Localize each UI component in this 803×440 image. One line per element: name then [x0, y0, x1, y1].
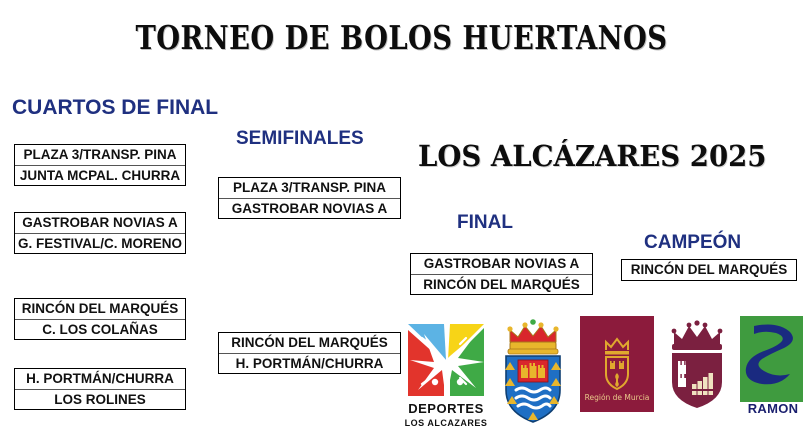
match-team-top: GASTROBAR NOVIAS A: [411, 254, 592, 274]
match-team-top: RINCÓN DEL MARQUÉS: [219, 333, 400, 353]
page-title: TORNEO DE BOLOS HUERTANOS: [32, 18, 771, 57]
round-heading-final: FINAL: [457, 212, 513, 234]
sponsor-logo-row: DEPORTES LOS ALCAZARES: [404, 316, 803, 434]
match-team-bottom: LOS ROLINES: [15, 389, 185, 409]
match-team-top: RINCÓN DEL MARQUÉS: [15, 299, 185, 319]
match-box: H. PORTMÁN/CHURRA LOS ROLINES: [14, 368, 186, 410]
match-team-bottom: C. LOS COLAÑAS: [15, 319, 185, 339]
match-team-bottom: H. PORTMÁN/CHURRA: [219, 353, 400, 373]
venue-year-headline: LOS ALCÁZARES 2025: [418, 139, 766, 173]
region-murcia-caption: Región de Murcia: [585, 393, 650, 402]
deportes-los-alcazares-logo: DEPORTES LOS ALCAZARES: [404, 316, 488, 428]
ramon-logo-caption: RAMON: [740, 401, 803, 416]
match-team-top: PLAZA 3/TRANSP. PINA: [219, 178, 400, 198]
ayuntamiento-los-alcazares-coat-of-arms: [494, 316, 572, 428]
deportes-logo-caption-main: DEPORTES: [404, 401, 488, 416]
match-box: PLAZA 3/TRANSP. PINA JUNTA MCPAL. CHURRA: [14, 144, 186, 186]
round-heading-champion: CAMPEÓN: [644, 232, 741, 254]
champion-team: RINCÓN DEL MARQUÉS: [622, 260, 796, 280]
match-team-bottom: RINCÓN DEL MARQUÉS: [411, 274, 592, 294]
match-team-bottom: JUNTA MCPAL. CHURRA: [15, 165, 185, 185]
match-box: GASTROBAR NOVIAS A RINCÓN DEL MARQUÉS: [410, 253, 593, 295]
ayuntamiento-de-murcia-coat-of-arms: [662, 316, 732, 414]
round-heading-semifinals: SEMIFINALES: [236, 128, 364, 150]
match-box: RINCÓN DEL MARQUÉS C. LOS COLAÑAS: [14, 298, 186, 340]
deportes-logo-caption-sub: LOS ALCAZARES: [404, 418, 488, 428]
match-team-top: PLAZA 3/TRANSP. PINA: [15, 145, 185, 165]
match-team-bottom: G. FESTIVAL/C. MORENO: [15, 233, 185, 253]
match-box: GASTROBAR NOVIAS A G. FESTIVAL/C. MORENO: [14, 212, 186, 254]
champion-box: RINCÓN DEL MARQUÉS: [621, 259, 797, 281]
match-team-top: GASTROBAR NOVIAS A: [15, 213, 185, 233]
match-team-top: H. PORTMÁN/CHURRA: [15, 369, 185, 389]
region-de-murcia-logo: Región de Murcia: [580, 316, 654, 412]
ramon-logo: RAMON: [740, 316, 803, 416]
round-heading-quarterfinals: CUARTOS DE FINAL: [12, 96, 218, 120]
match-box: RINCÓN DEL MARQUÉS H. PORTMÁN/CHURRA: [218, 332, 401, 374]
match-team-bottom: GASTROBAR NOVIAS A: [219, 198, 400, 218]
match-box: PLAZA 3/TRANSP. PINA GASTROBAR NOVIAS A: [218, 177, 401, 219]
